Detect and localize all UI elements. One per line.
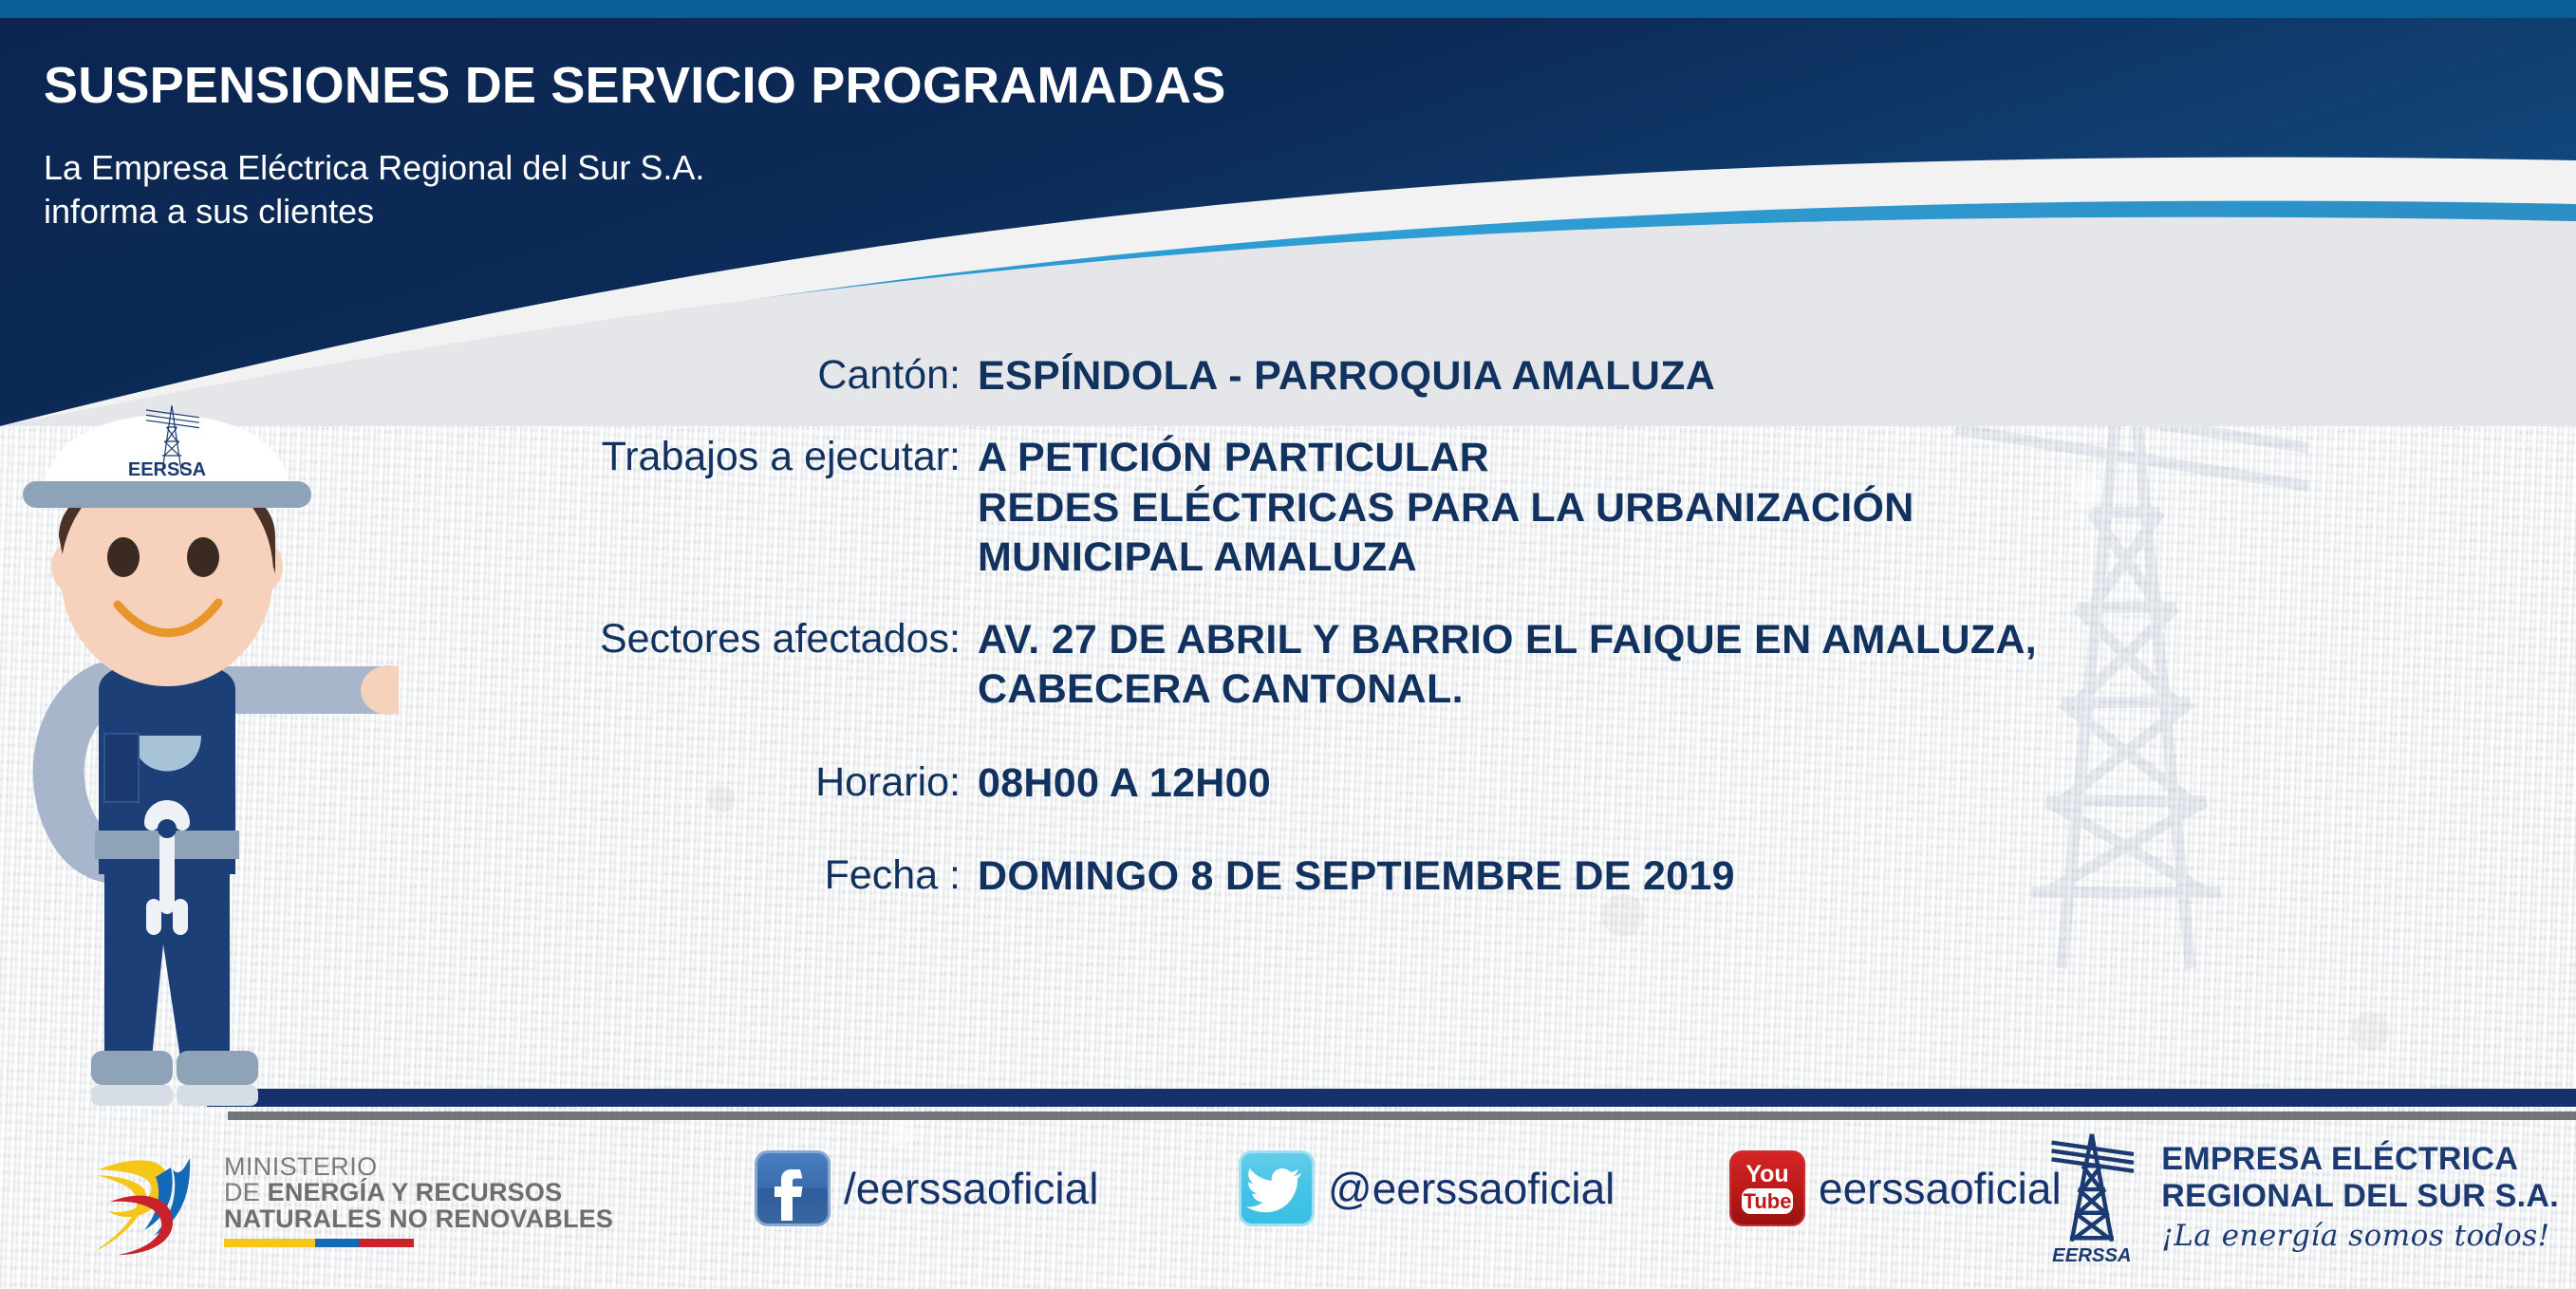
header-subtitle-line-2: informa a sus clientes	[44, 190, 704, 234]
ministerio-logo-block: MINISTERIO DE ENERGÍA Y RECURSOS NATURAL…	[91, 1135, 613, 1266]
divider-navy-bar	[207, 1089, 2576, 1107]
ministerio-line-2-prefix: DE	[224, 1178, 268, 1206]
ecuador-flag-bar	[224, 1239, 414, 1247]
ministerio-line-2-bold: ENERGÍA Y RECURSOS	[268, 1178, 563, 1206]
eerssa-tower-icon: EERSSA	[2034, 1126, 2148, 1268]
divider-shadow-bar	[228, 1112, 2576, 1120]
twitter-handle[interactable]: @eerssaoficial	[1328, 1163, 1615, 1214]
value-fecha: DOMINGO 8 DE SEPTIEMBRE DE 2019	[978, 851, 2525, 901]
label-canton: Cantón:	[513, 351, 978, 400]
eerssa-tower-label: EERSSA	[2052, 1245, 2131, 1266]
detail-row-canton: Cantón: ESPÍNDOLA - PARROQUIA AMALUZA	[513, 351, 2525, 401]
flag-stripe-blue	[315, 1239, 359, 1247]
facebook-icon[interactable]	[755, 1150, 831, 1226]
youtube-mark-bottom: Tube	[1744, 1189, 1792, 1213]
eerssa-company-line-1: EMPRESA ELÉCTRICA	[2161, 1141, 2559, 1177]
value-canton: ESPÍNDOLA - PARROQUIA AMALUZA	[978, 351, 2525, 401]
eerssa-company-line-2: REGIONAL DEL SUR S.A.	[2161, 1178, 2559, 1214]
eerssa-company-logo: EERSSA EMPRESA ELÉCTRICA REGIONAL DEL SU…	[2034, 1126, 2559, 1268]
social-facebook[interactable]: /eerssaoficial	[755, 1150, 1098, 1226]
eerssa-slogan: ¡La energía somos todos!	[2161, 1219, 2559, 1253]
ministerio-line-3: NATURALES NO RENOVABLES	[224, 1206, 613, 1233]
detail-row-fecha: Fecha : DOMINGO 8 DE SEPTIEMBRE DE 2019	[513, 851, 2525, 901]
poster-canvas: SUSPENSIONES DE SERVICIO PROGRAMADAS La …	[0, 0, 2576, 1289]
youtube-mark-top: You	[1745, 1161, 1788, 1187]
flag-stripe-red	[359, 1239, 414, 1247]
youtube-icon[interactable]: You Tube	[1729, 1150, 1805, 1226]
detail-row-horario: Horario: 08H00 A 12H00	[513, 758, 2525, 808]
helmet-logo-label: EERSSA	[128, 459, 206, 480]
footer-divider	[207, 1089, 2576, 1127]
worker-mascot-illustration: EERSSA	[0, 337, 399, 1125]
ministerio-line-1: MINISTERIO	[224, 1154, 613, 1181]
page-title: SUSPENSIONES DE SERVICIO PROGRAMADAS	[44, 56, 1225, 115]
detail-row-trabajos: Trabajos a ejecutar: A PETICIÓN PARTICUL…	[513, 433, 2525, 582]
value-trabajos: A PETICIÓN PARTICULAR REDES ELÉCTRICAS P…	[978, 433, 2525, 582]
top-accent-strip	[0, 0, 2576, 18]
twitter-icon[interactable]	[1239, 1150, 1315, 1226]
footer: MINISTERIO DE ENERGÍA Y RECURSOS NATURAL…	[0, 1130, 2576, 1289]
detail-row-sectores: Sectores afectados: AV. 27 DE ABRIL Y BA…	[513, 615, 2525, 715]
ministerio-line-2: DE ENERGÍA Y RECURSOS	[224, 1180, 613, 1206]
ecuador-ministry-swoosh-icon	[91, 1135, 215, 1266]
label-trabajos: Trabajos a ejecutar:	[513, 433, 978, 481]
social-youtube[interactable]: You Tube eerssaoficial	[1729, 1150, 2062, 1226]
value-sectores: AV. 27 DE ABRIL Y BARRIO EL FAIQUE EN AM…	[978, 615, 2525, 715]
social-twitter[interactable]: @eerssaoficial	[1239, 1150, 1615, 1226]
header-subtitle: La Empresa Eléctrica Regional del Sur S.…	[44, 146, 704, 234]
value-horario: 08H00 A 12H00	[978, 758, 2525, 808]
youtube-handle[interactable]: eerssaoficial	[1819, 1163, 2062, 1214]
label-fecha: Fecha :	[513, 851, 978, 900]
header-subtitle-line-1: La Empresa Eléctrica Regional del Sur S.…	[44, 146, 704, 190]
facebook-handle[interactable]: /eerssaoficial	[844, 1163, 1098, 1214]
flag-stripe-yellow	[224, 1239, 315, 1247]
outage-details: Cantón: ESPÍNDOLA - PARROQUIA AMALUZA Tr…	[513, 351, 2525, 926]
label-horario: Horario:	[513, 758, 978, 807]
label-sectores: Sectores afectados:	[513, 615, 978, 663]
